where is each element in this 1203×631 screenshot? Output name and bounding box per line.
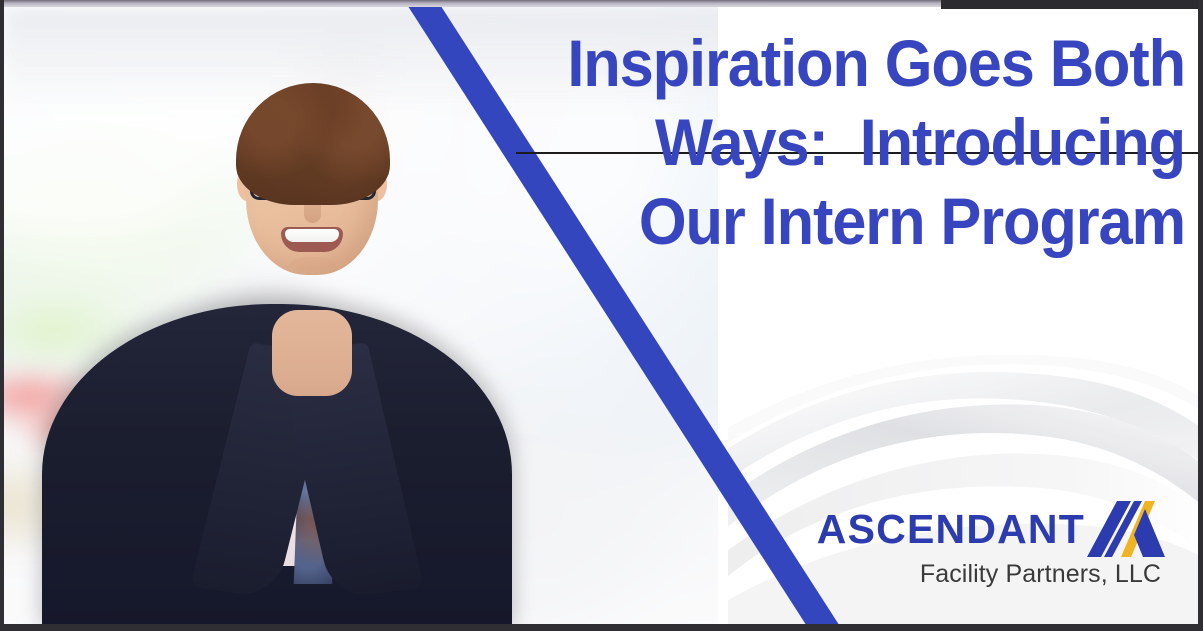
logo-tagline: Facility Partners, LLC	[817, 559, 1161, 589]
ascendant-a-mark-icon	[1087, 501, 1165, 557]
chin	[290, 257, 336, 271]
marketing-banner: Inspiration Goes Both Ways: Introducing …	[0, 0, 1203, 631]
logo-primary-row: ASCENDANT	[817, 501, 1165, 557]
neck	[272, 310, 352, 396]
page-title: Inspiration Goes Both Ways: Introducing …	[485, 24, 1185, 261]
brand-logo: ASCENDANT Facility Partners, LLC	[817, 501, 1165, 589]
window-titlebar-dark	[941, 0, 1203, 9]
headline-line-2: Ways: Introducing	[534, 103, 1185, 182]
teeth	[285, 229, 339, 242]
logo-wordmark: ASCENDANT	[817, 507, 1085, 551]
smile	[281, 227, 343, 252]
headline-line-3: Our Intern Program	[534, 182, 1185, 261]
window-border-left	[0, 0, 4, 631]
window-border-bottom	[0, 624, 1203, 631]
window-border-right	[1198, 0, 1203, 631]
window-titlebar-light	[0, 0, 941, 7]
headline-line-1: Inspiration Goes Both	[534, 24, 1185, 103]
hair	[236, 83, 390, 205]
